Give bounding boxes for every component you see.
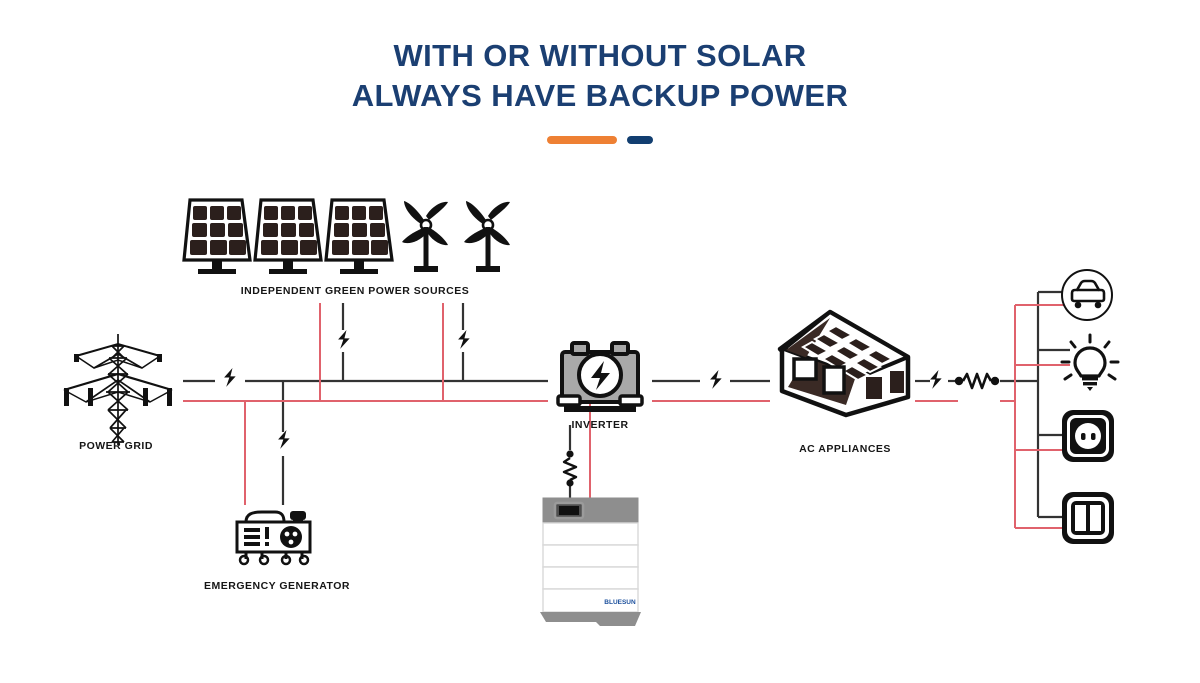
diagram-canvas: WITH OR WITHOUT SOLAR ALWAYS HAVE BACKUP…	[0, 0, 1200, 683]
battery-stack-icon: BLUESUN	[538, 496, 648, 628]
lightning-bolt-icon	[224, 368, 236, 387]
power-socket-icon[interactable]	[1060, 408, 1116, 464]
lightning-bolt-icon	[458, 330, 470, 349]
solar-panel-icon	[184, 198, 394, 288]
car-charger-icon[interactable]	[1060, 268, 1116, 324]
lightning-bolt-icon	[278, 430, 290, 449]
light-switch-icon[interactable]	[1060, 490, 1116, 546]
inverter-icon	[548, 338, 652, 418]
fuse-icon	[955, 374, 999, 388]
ac-appliances-label: AC APPLIANCES	[760, 443, 930, 455]
lightning-bolt-icon	[930, 370, 942, 389]
wind-turbine-icon	[396, 198, 516, 288]
lightning-bolt-icon	[710, 370, 722, 389]
house-with-solar-icon	[768, 305, 918, 415]
inverter-label: INVERTER	[520, 419, 680, 431]
battery-brand-label: BLUESUN	[604, 599, 636, 606]
resistor-icon	[564, 450, 576, 486]
green-sources-label: INDEPENDENT GREEN POWER SOURCES	[200, 285, 510, 297]
generator-icon	[232, 506, 322, 568]
power-grid-label: POWER GRID	[36, 440, 196, 452]
light-bulb-icon[interactable]	[1058, 332, 1122, 396]
lightning-bolt-icon	[338, 330, 350, 349]
emergency-generator-label: EMERGENCY GENERATOR	[182, 580, 372, 592]
